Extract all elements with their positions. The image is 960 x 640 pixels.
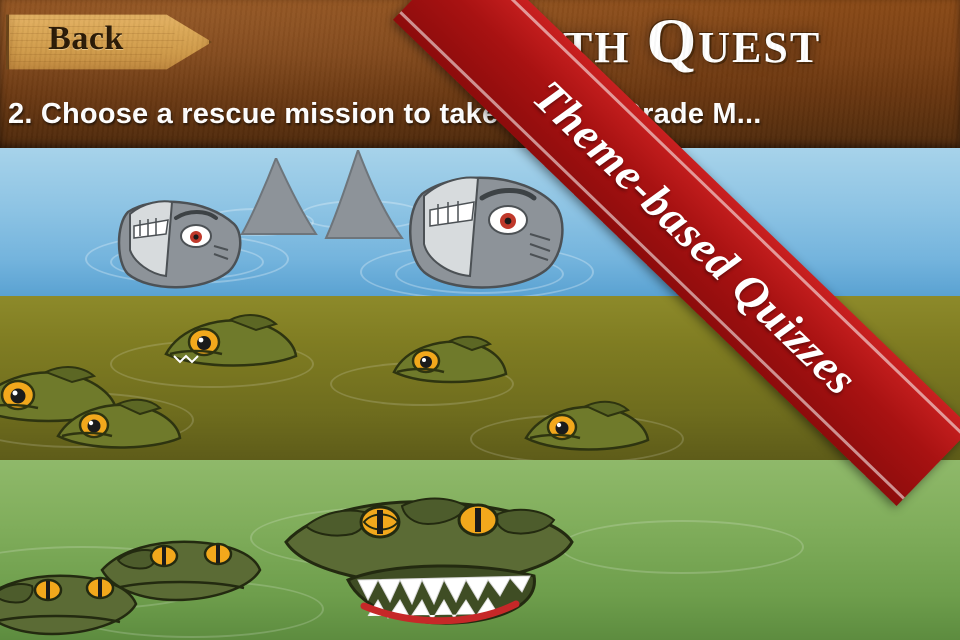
- mission-row-monster-crocs[interactable]: Monster Crocs »: [0, 460, 960, 640]
- back-button-label: Back: [6, 6, 166, 72]
- back-button[interactable]: Back: [6, 6, 206, 72]
- title-part-uest: UEST: [698, 23, 821, 72]
- mission-row-deadly-sharks[interactable]: Deadly Sharks »: [0, 148, 960, 296]
- ocean-background: [0, 148, 960, 296]
- title-part-q: Q: [647, 5, 699, 76]
- marsh-background: [0, 460, 960, 640]
- game-screen: Deadly Sharks »: [0, 0, 960, 640]
- instruction-text: 2. Choose a rescue mission to take the 2…: [8, 98, 948, 131]
